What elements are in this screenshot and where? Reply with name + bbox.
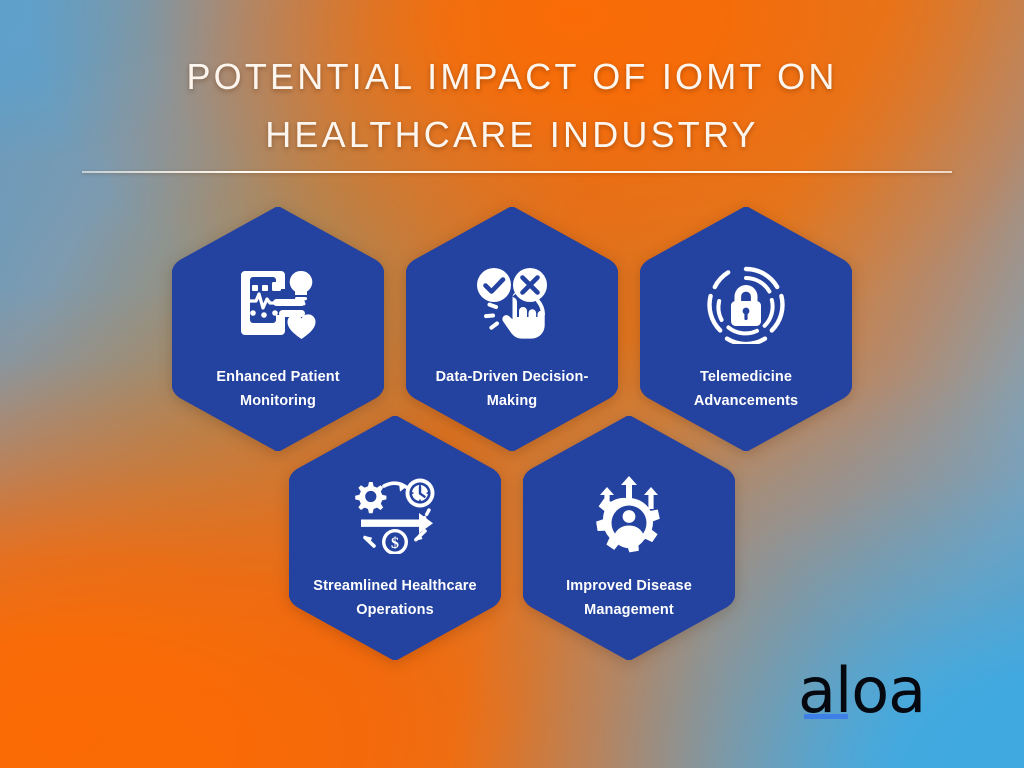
page-title: POTENTIAL IMPACT OF IOMT ON HEALTHCARE I… bbox=[0, 48, 1024, 164]
hexagon-card-streamlined-healthcare-operations[interactable]: $ Streamlined Healthcare Operations bbox=[289, 416, 501, 660]
person-in-gear-growth-arrows-icon bbox=[523, 468, 735, 560]
hexagon-label: Telemedicine Advancements bbox=[648, 365, 844, 413]
patient-monitor-icon bbox=[172, 259, 384, 351]
check-cross-choice-hand-icon bbox=[406, 259, 618, 351]
hexagon-label: Data-Driven Decision-Making bbox=[414, 365, 610, 413]
hexagon-card-enhanced-patient-monitoring[interactable]: Enhanced Patient Monitoring bbox=[172, 207, 384, 451]
svg-text:$: $ bbox=[391, 535, 399, 552]
hexagon-label: Streamlined Healthcare Operations bbox=[297, 574, 493, 622]
infographic-slide: POTENTIAL IMPACT OF IOMT ON HEALTHCARE I… bbox=[0, 0, 1024, 768]
gear-clock-money-cycle-icon: $ bbox=[289, 468, 501, 560]
page-title-line-2: HEALTHCARE INDUSTRY bbox=[0, 106, 1024, 164]
hexagon-label: Improved Disease Management bbox=[531, 574, 727, 622]
secure-lock-rings-icon bbox=[640, 259, 852, 351]
title-divider bbox=[82, 171, 952, 173]
page-title-line-1: POTENTIAL IMPACT OF IOMT ON bbox=[0, 48, 1024, 106]
hexagon-card-data-driven-decision-making[interactable]: Data-Driven Decision-Making bbox=[406, 207, 618, 451]
logo-wordmark: aloa bbox=[798, 660, 925, 722]
hexagon-card-improved-disease-management[interactable]: Improved Disease Management bbox=[523, 416, 735, 660]
logo-underline-accent bbox=[804, 714, 848, 719]
hexagon-label: Enhanced Patient Monitoring bbox=[180, 365, 376, 413]
aloa-logo[interactable]: aloa bbox=[798, 660, 925, 722]
hexagon-card-telemedicine-advancements[interactable]: Telemedicine Advancements bbox=[640, 207, 852, 451]
